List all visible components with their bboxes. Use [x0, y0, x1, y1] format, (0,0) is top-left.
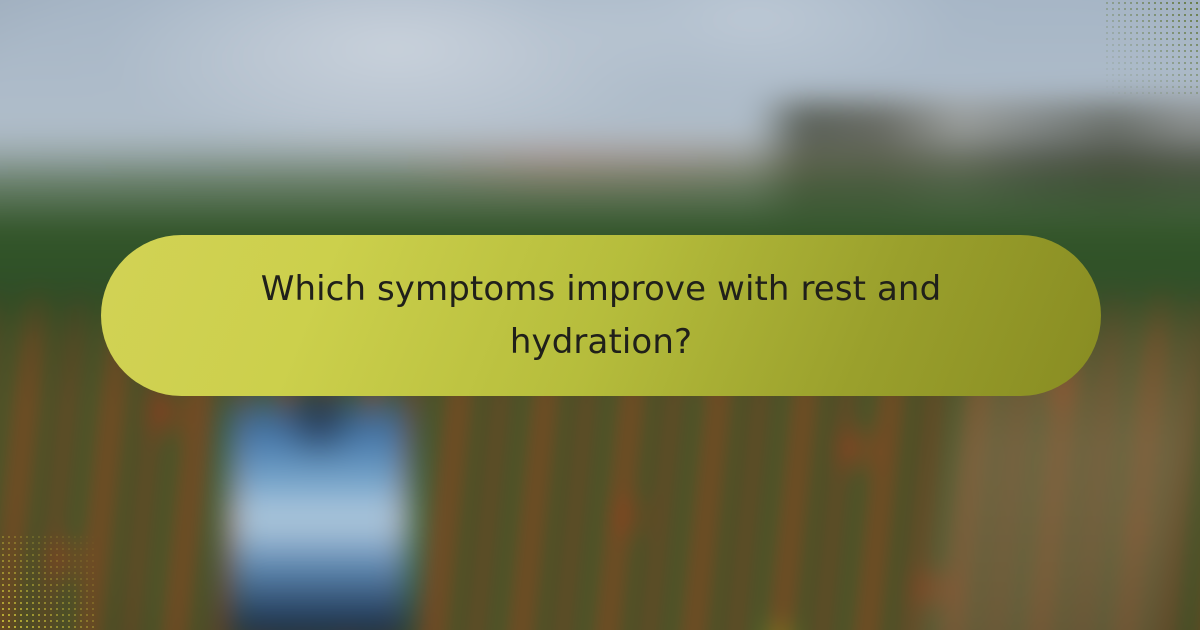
question-text: Which symptoms improve with rest and hyd…: [191, 263, 1011, 369]
question-card: Which symptoms improve with rest and hyd…: [0, 0, 1200, 630]
dot-grid-bottom-left: [0, 534, 96, 630]
dot-grid-top-right: [1104, 0, 1200, 96]
question-pill: Which symptoms improve with rest and hyd…: [101, 235, 1101, 396]
